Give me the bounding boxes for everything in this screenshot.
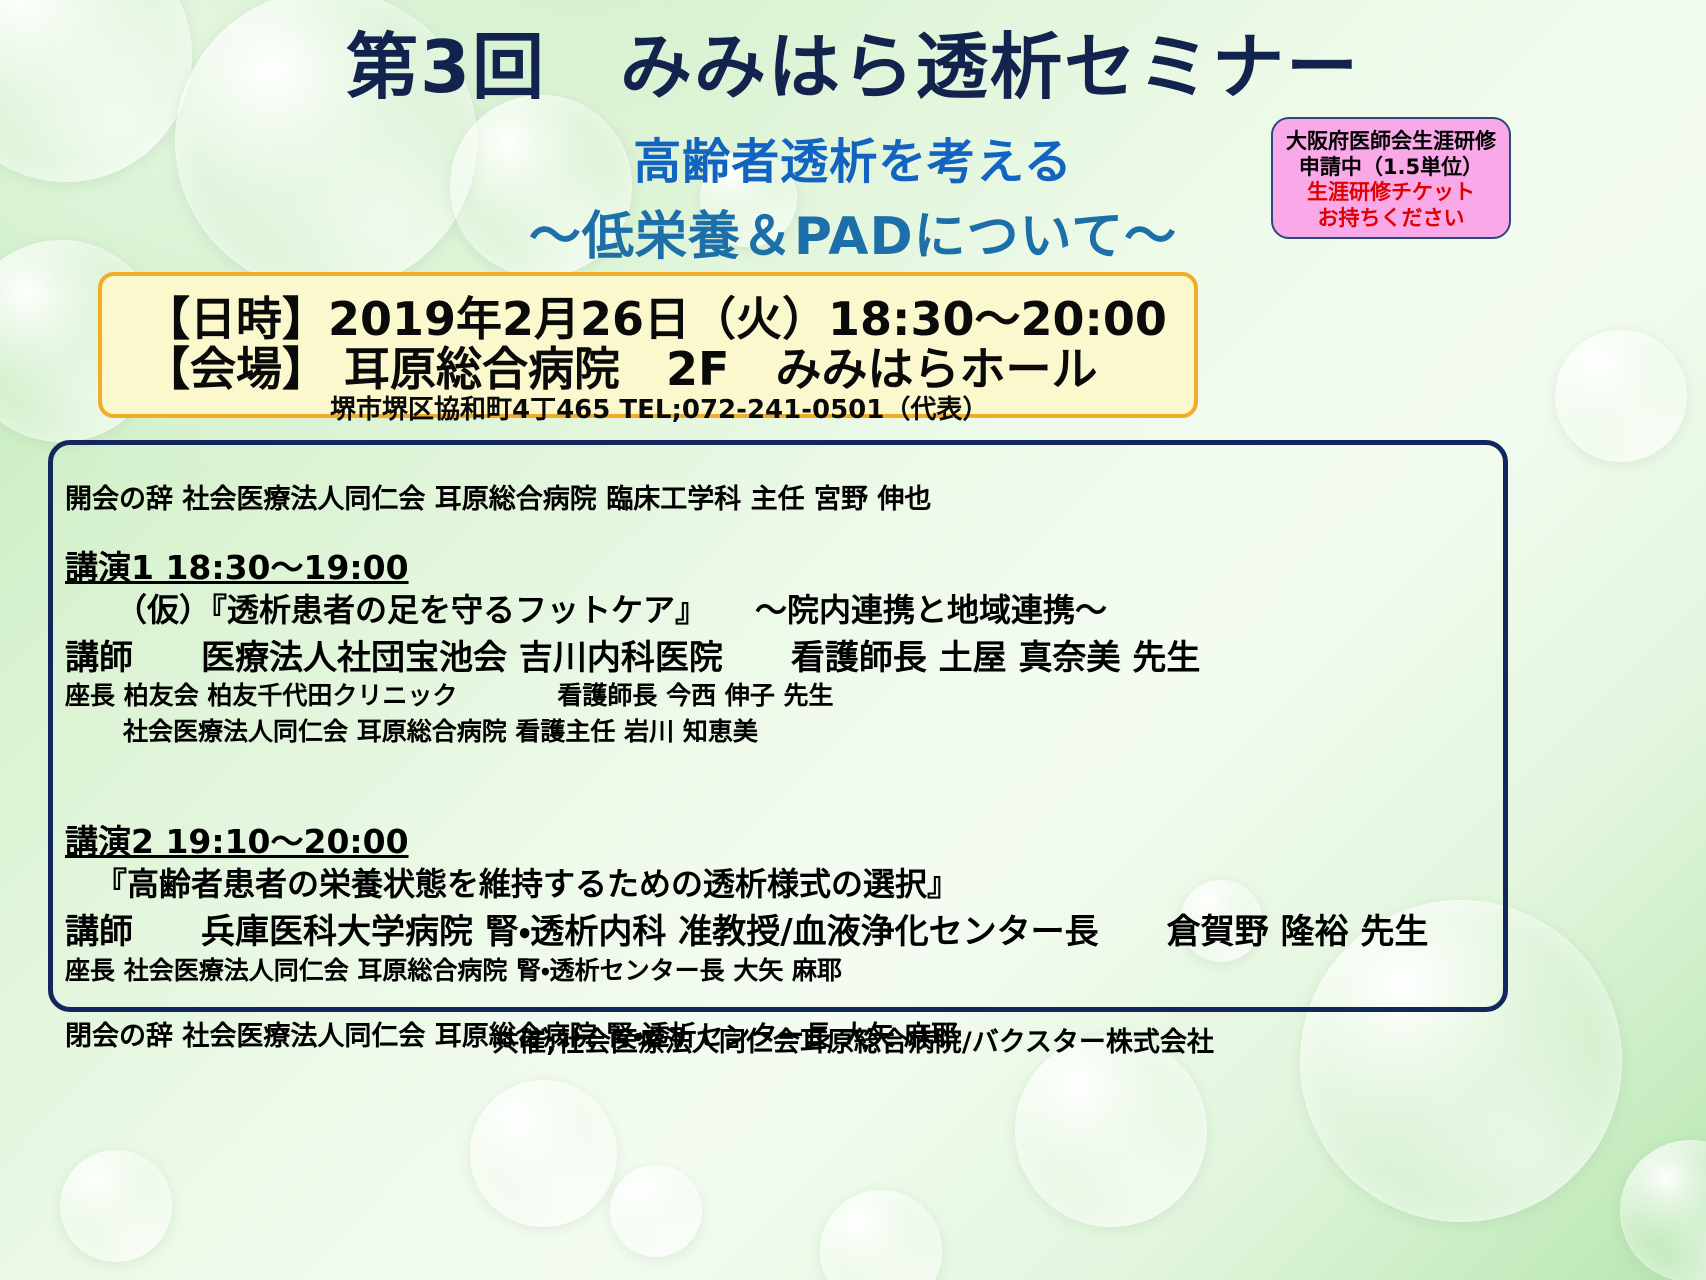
session-1-title: （仮）『透析患者の足を守るフットケア』 ～院内連携と地域連携～ (115, 585, 1107, 631)
program-opening-remarks: 開会の辞 社会医療法人同仁会 耳原総合病院 臨床工学科 主任 宮野 伸也 (65, 477, 931, 516)
credit-line-organization: 大阪府医師会生涯研修 (1273, 129, 1509, 155)
bubble-decoration (820, 1190, 942, 1280)
credit-line-bring: お持ちください (1273, 206, 1509, 232)
cme-credit-badge: 大阪府医師会生涯研修 申請中（1.5単位） 生涯研修チケット お持ちください (1271, 117, 1511, 239)
credit-line-units: 申請中（1.5単位） (1273, 155, 1509, 181)
session-1-speaker: 講師 医療法人社団宝池会 吉川内科医院 看護師長 土屋 真奈美 先生 (65, 630, 1200, 679)
bubble-decoration (60, 1150, 172, 1262)
bubble-decoration (610, 1165, 702, 1257)
seminar-poster: 第3回 みみはら透析セミナー 高齢者透析を考える ～低栄養＆PADについて～ 大… (0, 0, 1706, 1280)
credit-line-ticket: 生涯研修チケット (1273, 180, 1509, 206)
cosponsor-line: 共催;社会医療法人同仁会耳原総合病院/バクスター株式会社 (0, 1020, 1706, 1059)
event-info-box: 【日時】2019年2月26日（火）18:30～20:00 【会場】 耳原総合病院… (98, 272, 1198, 418)
page-title: 第3回 みみはら透析セミナー (0, 8, 1706, 113)
session-1-chair-2: 社会医療法人同仁会 耳原総合病院 看護主任 岩川 知恵美 (123, 712, 758, 748)
event-address: 堺市堺区協和町4丁465 TEL;072-241-0501（代表） (330, 389, 988, 426)
session-2-heading: 講演2 19:10～20:00 (65, 815, 409, 863)
session-2-chair-1: 座長 社会医療法人同仁会 耳原総合病院 腎・透析センター長 大矢 麻耶 (65, 951, 842, 987)
session-1-chair-1: 座長 柏友会 柏友千代田クリニック 看護師長 今西 伸子 先生 (65, 676, 834, 712)
session-1-heading: 講演1 18:30～19:00 (65, 541, 409, 589)
bubble-decoration (1015, 1035, 1207, 1227)
session-2-title: 『高齢者患者の栄養状態を維持するための透析様式の選択』 (95, 859, 959, 905)
session-2-speaker: 講師 兵庫医科大学病院 腎・透析内科 准教授/血液浄化センター長 倉賀野 隆裕 … (65, 904, 1428, 953)
program-box: 開会の辞 社会医療法人同仁会 耳原総合病院 臨床工学科 主任 宮野 伸也 講演1… (48, 440, 1508, 1012)
bubble-decoration (1555, 330, 1687, 462)
bubble-decoration (1620, 1140, 1706, 1280)
bubble-decoration (470, 1080, 617, 1227)
